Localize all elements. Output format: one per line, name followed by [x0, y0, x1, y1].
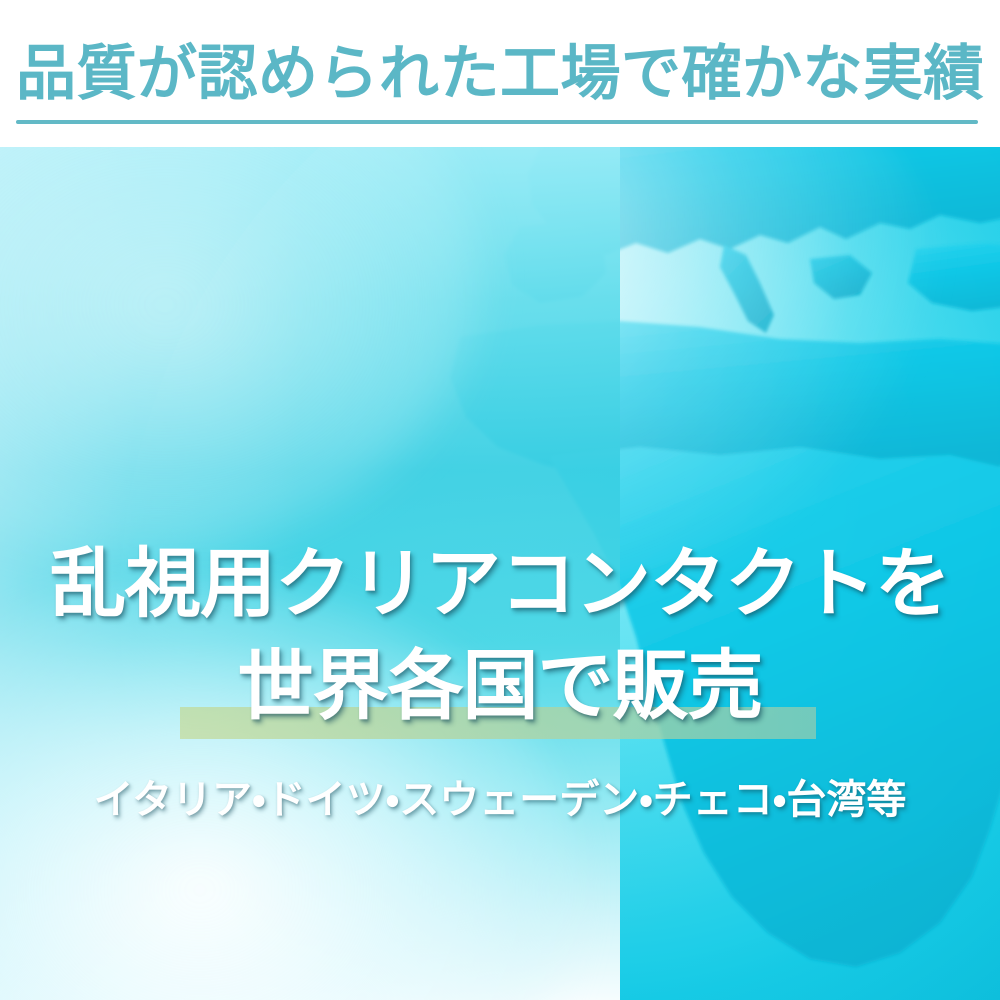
- hero-image-stage: 乱視用クリアコンタクトを 世界各国で販売 イタリア・ドイツ・スウェーデン・チェコ…: [0, 147, 1000, 1000]
- hero-subtitle: イタリア・ドイツ・スウェーデン・チェコ・台湾等: [0, 775, 1000, 825]
- hero-text-overlay: 乱視用クリアコンタクトを 世界各国で販売 イタリア・ドイツ・スウェーデン・チェコ…: [0, 147, 1000, 1000]
- banner-header: 品質が認められた工場で確かな実績: [0, 0, 1000, 147]
- hero-title-line-1: 乱視用クリアコンタクトを: [0, 542, 1000, 628]
- header-title: 品質が認められた工場で確かな実績: [0, 40, 1000, 108]
- header-underline-rule: [16, 120, 978, 124]
- promo-banner: 品質が認められた工場で確かな実績: [0, 0, 1000, 1000]
- hero-title-line-2: 世界各国で販売: [0, 644, 1000, 730]
